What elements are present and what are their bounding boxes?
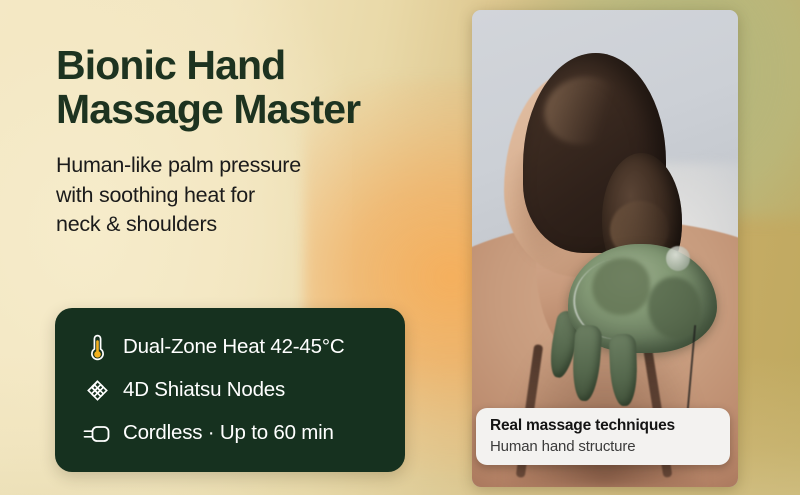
caption-subtitle: Human hand structure (490, 437, 730, 457)
feature-label-cordless: Cordless · Up to 60 min (123, 423, 334, 444)
photo-caption-card: Real massage techniques Human hand struc… (476, 408, 730, 465)
page-subtitle: Human-like palm pressure with soothing h… (56, 151, 456, 241)
page-title: Bionic Hand Massage Master (56, 44, 456, 132)
feature-list-panel: Dual-Zone Heat 42-45°C 4D Shiatsu Nodes (55, 308, 405, 472)
feature-label-nodes: 4D Shiatsu Nodes (123, 380, 285, 401)
feature-item-nodes: 4D Shiatsu Nodes (55, 369, 405, 412)
caption-title: Real massage techniques (490, 416, 730, 435)
copy-column: Bionic Hand Massage Master Human-like pa… (56, 44, 456, 240)
thermometer-icon (81, 333, 113, 363)
feature-item-heat: Dual-Zone Heat 42-45°C (55, 326, 405, 369)
cordless-plug-icon (81, 419, 113, 449)
promo-poster: Bionic Hand Massage Master Human-like pa… (0, 0, 800, 495)
device-logo-badge (666, 246, 690, 271)
feature-item-cordless: Cordless · Up to 60 min (55, 412, 405, 455)
feature-label-heat: Dual-Zone Heat 42-45°C (123, 337, 344, 358)
shiatsu-node-icon (81, 376, 113, 406)
